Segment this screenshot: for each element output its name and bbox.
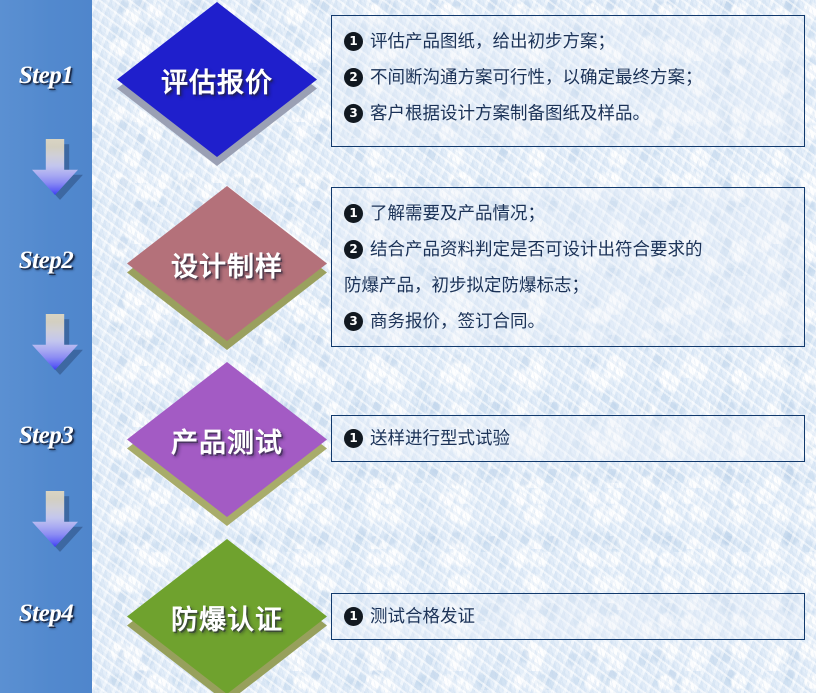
detail-line: 2结合产品资料判定是否可设计出符合要求的 — [344, 232, 794, 268]
bullet-icon: 1 — [344, 32, 363, 51]
details-box-step-2: 1了解需要及产品情况； 2结合产品资料判定是否可设计出符合要求的 防爆产品，初步… — [331, 187, 805, 347]
step-label-3: Step3 — [0, 422, 92, 450]
diamond-step-2-face: 设计制样 — [127, 186, 327, 341]
step-label-4: Step4 — [0, 600, 92, 628]
step-label-2: Step2 — [0, 247, 92, 275]
diamond-step-3[interactable]: 产品测试 — [127, 362, 327, 517]
detail-line: 2不间断沟通方案可行性，以确定最终方案； — [344, 60, 794, 96]
detail-line: 3商务报价，签订合同。 — [344, 304, 794, 340]
detail-text: 不间断沟通方案可行性，以确定最终方案； — [370, 68, 703, 88]
diamond-step-3-label: 产品测试 — [171, 421, 283, 460]
diamond-step-4-face: 防爆认证 — [127, 539, 327, 693]
bullet-icon: 2 — [344, 68, 363, 87]
detail-line: 1评估产品图纸，给出初步方案； — [344, 24, 794, 60]
detail-text: 结合产品资料判定是否可设计出符合要求的 — [370, 240, 703, 260]
diamond-step-4[interactable]: 防爆认证 — [127, 539, 327, 693]
detail-line-continuation: 防爆产品，初步拟定防爆标志； — [344, 268, 794, 304]
down-arrow-2 — [32, 314, 78, 370]
bullet-icon: 2 — [344, 240, 363, 259]
detail-text: 测试合格发证 — [370, 607, 475, 627]
bullet-icon: 1 — [344, 429, 363, 448]
diamond-step-1[interactable]: 评估报价 — [117, 2, 317, 157]
diamond-step-1-face: 评估报价 — [117, 2, 317, 157]
detail-text: 了解需要及产品情况； — [370, 204, 545, 224]
step-label-1: Step1 — [0, 62, 92, 90]
detail-text: 客户根据设计方案制备图纸及样品。 — [370, 104, 650, 124]
down-arrow-3 — [32, 491, 78, 547]
details-box-step-3: 1送样进行型式试验 — [331, 415, 805, 462]
bullet-icon: 1 — [344, 204, 363, 223]
flowchart-canvas: Step1 Step2 Step3 Step4 评估报价 设计制样 产品测试 — [0, 0, 816, 693]
diamond-step-2-label: 设计制样 — [171, 245, 283, 284]
bullet-icon: 1 — [344, 607, 363, 626]
detail-line: 1送样进行型式试验 — [344, 421, 794, 457]
diamond-step-1-label: 评估报价 — [161, 61, 273, 100]
details-box-step-1: 1评估产品图纸，给出初步方案； 2不间断沟通方案可行性，以确定最终方案； 3客户… — [331, 15, 805, 147]
detail-line: 1了解需要及产品情况； — [344, 196, 794, 232]
down-arrow-1 — [32, 139, 78, 195]
detail-text: 商务报价，签订合同。 — [370, 312, 545, 332]
detail-line: 3客户根据设计方案制备图纸及样品。 — [344, 96, 794, 132]
bullet-icon: 3 — [344, 312, 363, 331]
bullet-icon: 3 — [344, 104, 363, 123]
diamond-step-3-face: 产品测试 — [127, 362, 327, 517]
diamond-step-4-label: 防爆认证 — [171, 598, 283, 637]
detail-text: 防爆产品，初步拟定防爆标志； — [344, 276, 589, 296]
detail-text: 评估产品图纸，给出初步方案； — [370, 32, 615, 52]
detail-text: 送样进行型式试验 — [370, 429, 510, 449]
diamond-step-2[interactable]: 设计制样 — [127, 186, 327, 341]
detail-line: 1测试合格发证 — [344, 599, 794, 635]
details-box-step-4: 1测试合格发证 — [331, 593, 805, 640]
